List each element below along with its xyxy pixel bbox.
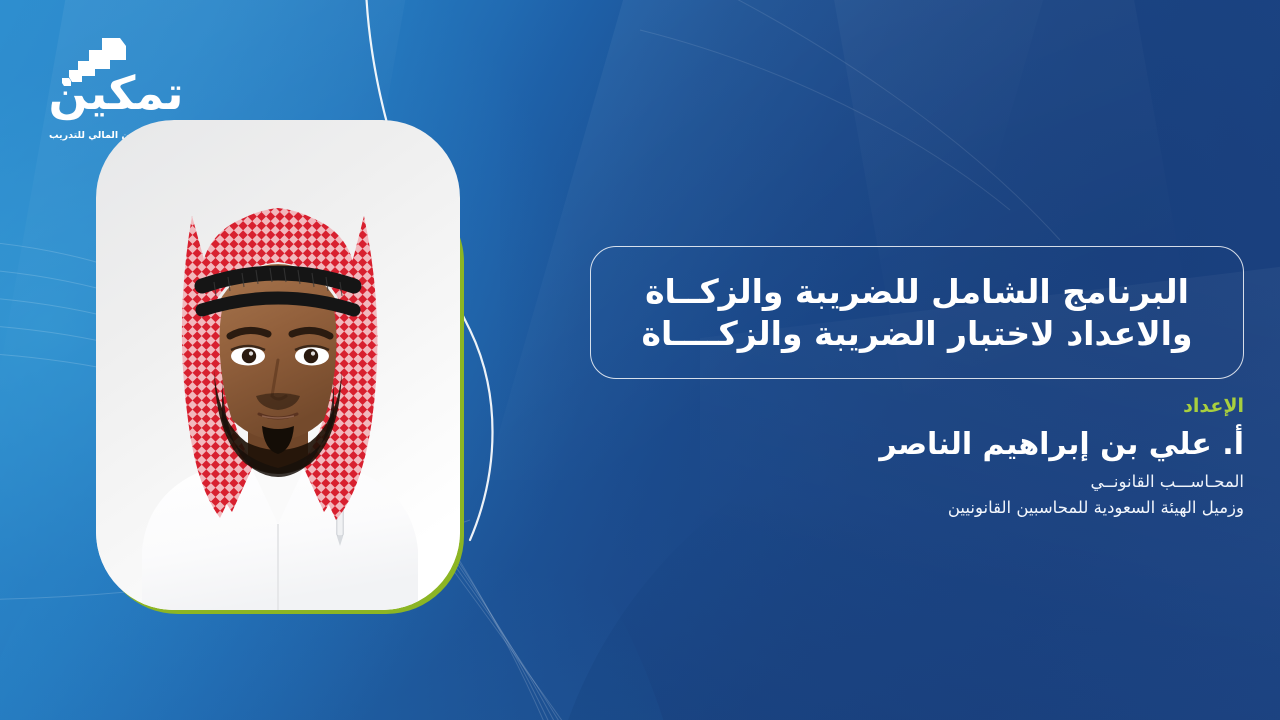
presenter-name: أ. علي بن إبراهيم الناصر xyxy=(604,423,1244,467)
credits-block: الإعداد أ. علي بن إبراهيم الناصر المحـاس… xyxy=(604,392,1244,520)
prepared-by-label: الإعداد xyxy=(604,392,1244,421)
presentation-slide: تمكين مركز التمكين المالي للتدريب xyxy=(0,0,1280,720)
presenter-fellowship: وزميل الهيئة السعودية للمحاسبين القانوني… xyxy=(604,495,1244,521)
presenter-portrait xyxy=(96,120,460,610)
presenter-photo-frame xyxy=(96,180,460,610)
photo-card xyxy=(96,180,460,610)
program-title-line-2: والاعداد لاختبار الضريبة والزكــــاة xyxy=(642,313,1193,355)
logo-wordmark: تمكين xyxy=(36,70,196,116)
program-title-box: البرنامج الشامل للضريبة والزكــاة والاعد… xyxy=(590,246,1244,379)
presenter-role: المحـاســـب القانونــي xyxy=(604,469,1244,495)
program-title-line-1: البرنامج الشامل للضريبة والزكــاة xyxy=(645,271,1189,313)
